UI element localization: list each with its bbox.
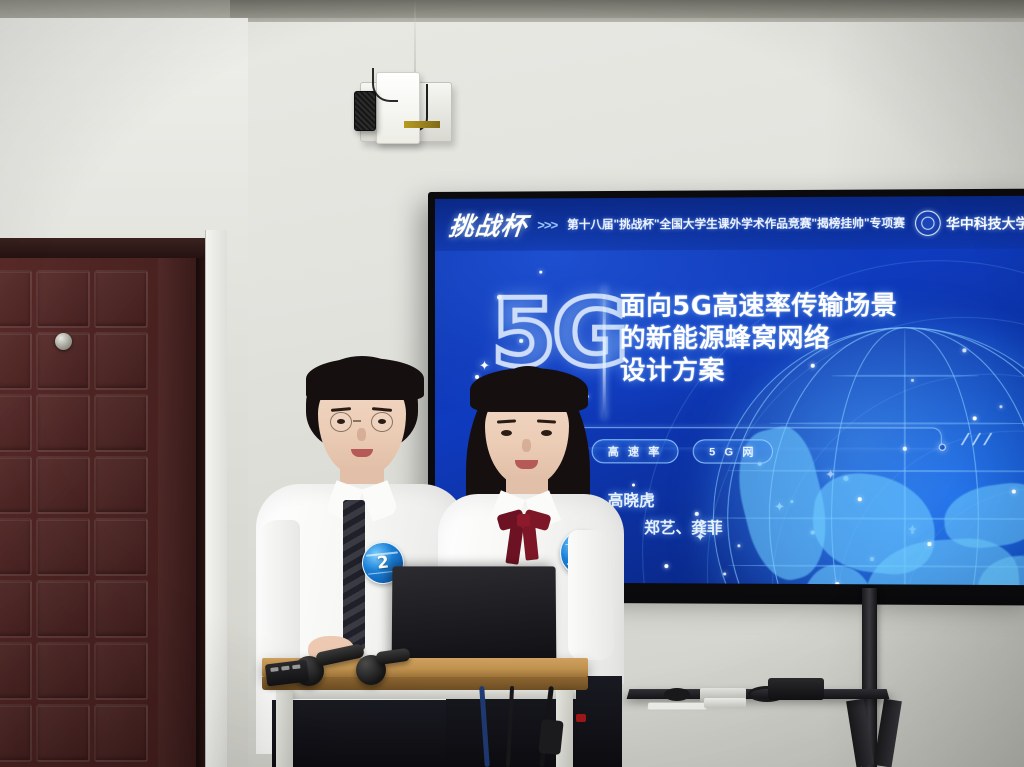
- presenter-left-eye-r: [378, 419, 386, 424]
- door-panel: [36, 704, 90, 762]
- star: [539, 271, 542, 274]
- power-brick: [538, 719, 563, 755]
- arrow-icon: >>>: [537, 217, 557, 232]
- presenter-right-arm: [568, 530, 614, 660]
- connector-dot-right: [939, 444, 946, 451]
- hust-seal-icon: [915, 210, 941, 235]
- presenter-left-arm: [258, 520, 300, 670]
- sponsor-logos: 华中科技大学 中信科移 CICT Mobile: [915, 205, 1024, 240]
- competition-subtitle: 第十八届"挑战杯"全国大学生课外学术作品竞赛"揭榜挂帅"专项赛: [567, 215, 905, 233]
- ap-label: [404, 121, 440, 128]
- door-panel: [94, 580, 148, 638]
- presenter-left-necktie: [343, 500, 365, 650]
- door-panel: [0, 394, 32, 452]
- door-panel: [94, 518, 148, 576]
- presenter-left-skirt: [272, 700, 452, 767]
- globe-node: [973, 416, 977, 420]
- slide-title-line-1: 面向5G高速率传输场景: [620, 289, 1024, 322]
- presenter-right-fringe: [470, 368, 588, 412]
- globe-node: [1012, 490, 1016, 494]
- door-panel: [94, 704, 148, 762]
- slide-header: 挑战杯 >>> 第十八届"挑战杯"全国大学生课外学术作品竞赛"揭榜挂帅"专项赛 …: [435, 196, 1024, 251]
- laptop-screen-back[interactable]: [392, 566, 557, 670]
- star: [632, 484, 635, 487]
- hust-logo-text: 华中科技大学: [946, 212, 1024, 233]
- door-panel: [0, 270, 32, 328]
- presenter-right-eye-l: [501, 430, 512, 436]
- slide-title-line-2: 的新能源蜂窝网络: [620, 322, 1024, 355]
- door-panel: [94, 332, 148, 390]
- door-panels: [0, 270, 160, 767]
- slide-credits: 高晓虎 郑艺、龚菲: [608, 487, 723, 542]
- slide-tag-1: 高 速 率: [592, 439, 679, 463]
- globe-node: [858, 497, 862, 501]
- shelf-cable-coil: [664, 688, 690, 701]
- slide-tag-2: 5 G 网: [693, 439, 773, 463]
- competition-logo-text: 挑战杯: [447, 206, 529, 242]
- presenter-left-nose: [357, 428, 366, 441]
- door-panel: [0, 518, 32, 576]
- presenter-left-eye-l: [337, 419, 345, 424]
- globe-node: [927, 542, 931, 546]
- shelf-papers: [648, 703, 707, 710]
- slide-title: 面向5G高速率传输场景 的新能源蜂窝网络 设计方案: [620, 289, 1024, 387]
- door-panel: [0, 704, 32, 762]
- door-panel: [94, 642, 148, 700]
- podium-leg-left: [276, 690, 293, 767]
- globe-node: [835, 582, 839, 585]
- presenter-right-nose: [522, 439, 531, 452]
- presenter-right-eye-r: [541, 430, 552, 436]
- presenter-right-bowtie-knot: [517, 514, 530, 527]
- door-panel: [94, 394, 148, 452]
- door-panel: [36, 580, 90, 638]
- shelf-router-2: [704, 698, 746, 708]
- door-casing: [205, 230, 227, 767]
- door-panel: [36, 518, 90, 576]
- door-header: [0, 238, 218, 260]
- door-panel: [36, 270, 90, 328]
- student-names: 郑艺、龚菲: [644, 515, 723, 543]
- photo-scene: ✦✦✦✦✦ 挑战杯 >>> 第十八届"挑战杯"全国大学生课外学术作品竞赛"揭榜挂…: [0, 0, 1024, 767]
- shelf-black-box: [768, 678, 824, 700]
- hust-logo: 华中科技大学: [915, 210, 1024, 236]
- ceiling-soffit: [230, 0, 1024, 18]
- presenter-left-badge-number: 2: [376, 554, 390, 572]
- presenter-left-glasses-bridge: [353, 420, 361, 422]
- door-panel: [36, 456, 90, 514]
- remote-button-1[interactable]: [270, 667, 278, 672]
- door-panel: [36, 394, 90, 452]
- title-divider: [603, 286, 606, 419]
- advisor-name: 高晓虎: [608, 492, 655, 509]
- ap-power-adapter: [354, 91, 376, 131]
- door-stile: [158, 258, 200, 767]
- door-panel: [0, 332, 32, 390]
- slide-title-line-3: 设计方案: [620, 355, 1024, 388]
- remote-button-2[interactable]: [281, 666, 289, 671]
- door[interactable]: [0, 258, 200, 767]
- remote-button-3[interactable]: [292, 664, 300, 669]
- door-panel: [94, 270, 148, 328]
- door-panel: [0, 580, 32, 638]
- door-panel: [36, 642, 90, 700]
- door-knob[interactable]: [55, 333, 72, 350]
- door-panel: [0, 456, 32, 514]
- podium-apron: [276, 690, 576, 699]
- presenter-left-fringe: [306, 358, 424, 400]
- door-panel: [94, 456, 148, 514]
- star-sparkle: ✦: [479, 359, 490, 372]
- cable-tag-red: [576, 714, 586, 722]
- wireless-access-point: [352, 58, 456, 156]
- door-panel: [0, 642, 32, 700]
